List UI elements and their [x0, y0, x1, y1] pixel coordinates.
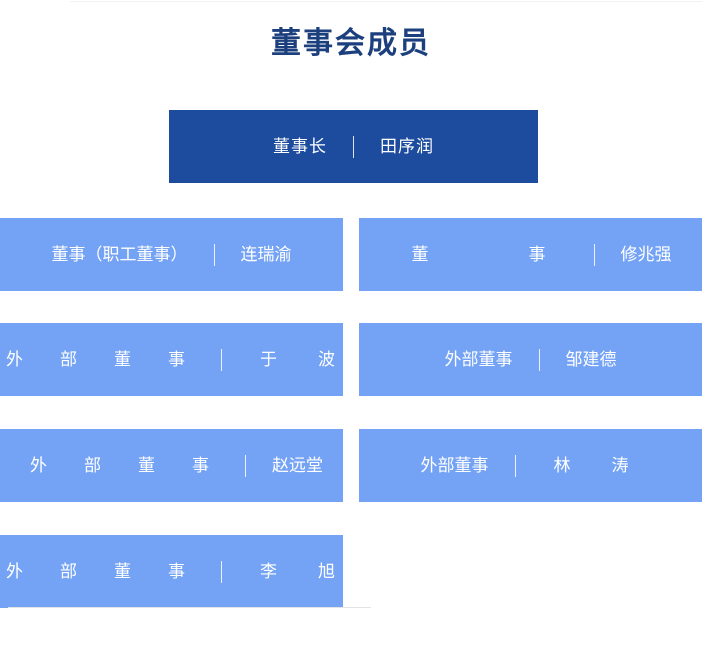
- board-member-card[interactable]: 外 部 董 事 李 旭: [0, 535, 343, 608]
- role-name-divider-icon: [214, 244, 215, 266]
- role-name-divider-icon: [353, 136, 354, 158]
- role-name-divider-icon: [221, 349, 222, 371]
- board-member-card[interactable]: 外 部 董 事 赵远堂: [0, 429, 343, 502]
- member-name-label: 李 旭: [248, 563, 347, 580]
- member-name-label: 林 涛: [542, 457, 641, 474]
- board-member-card[interactable]: 外部董事 邹建德: [359, 323, 702, 396]
- board-member-card[interactable]: 外 部 董 事 于 波: [0, 323, 343, 396]
- role-name-divider-icon: [594, 244, 595, 266]
- role-name-divider-icon: [245, 455, 246, 477]
- member-role-label: 外 部 董 事: [0, 351, 195, 368]
- board-member-card-chairman[interactable]: 董事长 田序润: [169, 110, 538, 183]
- member-name-label: 赵远堂: [272, 457, 323, 474]
- bottom-divider-line: [8, 607, 371, 608]
- page-title: 董事会成员: [0, 24, 702, 64]
- member-role-label: 董 事: [390, 246, 568, 263]
- member-role-label: 外 部 董 事: [20, 457, 219, 474]
- board-member-card[interactable]: 董事（职工董事） 连瑞渝: [0, 218, 343, 291]
- member-name-label: 修兆强: [621, 246, 672, 263]
- board-member-card[interactable]: 外部董事 林 涛: [359, 429, 702, 502]
- member-role-label: 董事长: [273, 138, 327, 155]
- member-role-label: 外部董事: [445, 351, 513, 368]
- member-role-label: 外部董事: [421, 457, 489, 474]
- member-name-label: 邹建德: [566, 351, 617, 368]
- role-name-divider-icon: [515, 455, 516, 477]
- member-role-label: 外 部 董 事: [0, 563, 195, 580]
- top-divider-line: [70, 1, 702, 2]
- role-name-divider-icon: [221, 561, 222, 583]
- board-member-card[interactable]: 董 事 修兆强: [359, 218, 702, 291]
- member-name-label: 于 波: [248, 351, 347, 368]
- member-name-label: 田序润: [380, 138, 434, 155]
- role-name-divider-icon: [539, 349, 540, 371]
- member-role-label: 董事（职工董事）: [52, 246, 188, 263]
- member-name-label: 连瑞渝: [241, 246, 292, 263]
- board-members-page: 董事会成员 董事长 田序润 董事（职工董事） 连瑞渝 董 事 修兆强 外 部 董…: [0, 0, 702, 652]
